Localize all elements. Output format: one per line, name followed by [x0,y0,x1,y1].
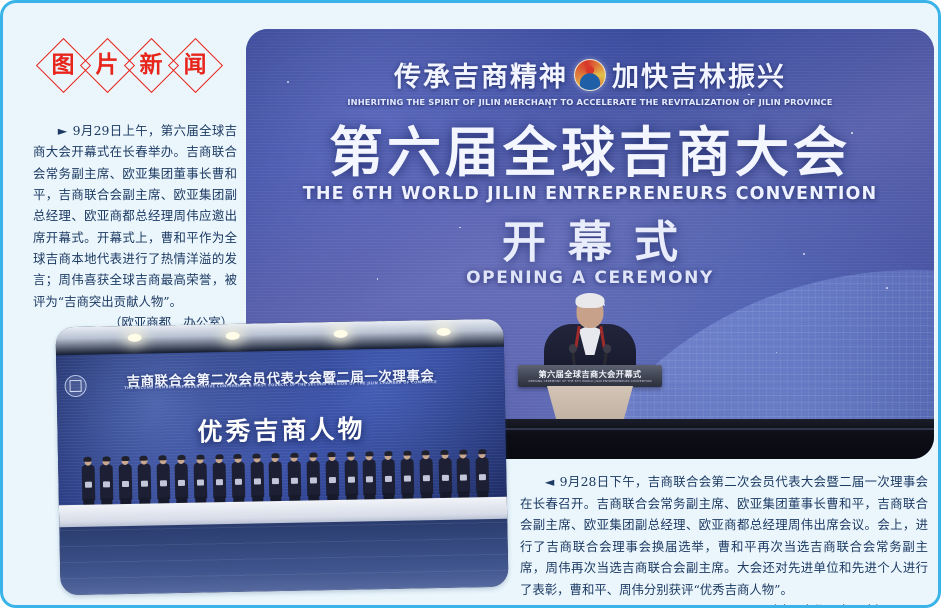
article-left-marker: ► [58,123,69,138]
stage-banner-cn-left: 传承吉商精神 [394,55,568,94]
award-trophy-icon [404,476,411,482]
article-right-marker: ◄ [545,474,556,489]
newspaper-page: 图 片 新 闻 ► 9月29日上午，第六届全球吉商大会开幕式在长春举办。吉商联合… [0,0,941,608]
honouree-head [84,458,91,466]
honouree-head [140,457,147,465]
spotlight-icon [436,328,450,336]
article-left: ► 9月29日上午，第六届全球吉商大会开幕式在长春举办。吉商联合会常务副主席、欧… [33,120,237,333]
award-trophy-icon [103,481,110,487]
venue-floor [59,519,508,596]
honouree-head [422,451,429,459]
award-trophy-icon [366,476,373,482]
ceremony-subtitle-cn: 开幕式 [246,219,934,267]
article-right-text: 9月28日下午，吉商联合会第二次会员代表大会暨二届一次理事会在长春召开。吉商联合… [520,474,928,597]
award-trophy-icon [329,477,336,483]
award-trophy-icon [291,478,298,484]
stage-banner-en: INHERITING THE SPIRIT OF JILIN MERCHANT … [246,97,934,107]
jilin-chamber-emblem-icon [574,59,606,91]
award-trophy-icon [235,479,242,485]
honouree-head [253,454,260,462]
award-trophy-icon [460,474,467,480]
award-trophy-icon [141,481,148,487]
award-trophy-icon [310,477,317,483]
podium-sign-cn: 第六届全球吉商大会开幕式 [538,370,641,378]
spotlight-icon [226,332,240,340]
article-right: ◄ 9月28日下午，吉商联合会第二次会员代表大会暨二届一次理事会在长春召开。吉商… [520,471,928,608]
award-trophy-icon [479,474,486,480]
award-trophy-icon [254,478,261,484]
masthead-diamond-4: 闻 [167,37,223,93]
masthead: 图 片 新 闻 [35,37,211,93]
honouree-head [122,457,129,465]
award-trophy-icon [423,475,430,481]
award-trophy-icon [442,475,449,481]
article-left-text: 9月29日上午，第六届全球吉商大会开幕式在长春举办。吉商联合会常务副主席、欧亚集… [33,123,237,309]
podium-sign: 第六届全球吉商大会开幕式 OPENING CEREMONY OF THE 6TH… [518,365,662,387]
award-trophy-icon [178,480,185,486]
honouree-head [159,456,166,464]
honouree-head [385,452,392,460]
honouree-head [347,453,354,461]
award-trophy-icon [272,478,279,484]
honouree-head [178,456,185,464]
photo-honourees: 吉商联合会第二次会员代表大会暨二届一次理事会 THE SECOND MEMBER… [55,319,508,596]
ceremony-subtitle-en: OPENING A CEREMONY [246,268,934,288]
honouree-head [403,452,410,460]
convention-title-block: 第六届全球吉商大会 THE 6TH WORLD JILIN ENTREPRENE… [246,125,934,204]
honouree-head [234,455,241,463]
article-right-credit: （欧亚商都 办公室） [520,600,928,608]
award-trophy-icon [160,480,167,486]
honouree-head [216,455,223,463]
spotlight-icon [127,334,141,342]
honouree-head [366,452,373,460]
podium-sign-en: OPENING CEREMONY OF THE 6TH WORLD JILIN … [528,380,651,383]
honouree-head [460,450,467,458]
honouree-head [272,454,279,462]
spotlight-icon [333,330,347,338]
honouree-head [197,456,204,464]
honouree-head [103,457,110,465]
award-trophy-icon [216,479,223,485]
article-right-body: ◄ 9月28日下午，吉商联合会第二次会员代表大会暨二届一次理事会在长春召开。吉商… [520,471,928,600]
convention-title-en: THE 6TH WORLD JILIN ENTREPRENEURS CONVEN… [246,184,934,204]
convention-title-cn: 第六届全球吉商大会 [246,125,934,182]
honouree-head [441,451,448,459]
stage-banner-top: 传承吉商精神 加快吉林振兴 INHERITING THE SPIRIT OF J… [246,55,934,107]
masthead-char-4: 闻 [167,37,223,93]
award-trophy-icon [197,479,204,485]
speaker-hair [576,293,605,308]
award-trophy-icon [348,477,355,483]
honouree-head [328,453,335,461]
award-trophy-icon [84,482,91,488]
article-left-body: ► 9月29日上午，第六届全球吉商大会开幕式在长春举办。吉商联合会常务副主席、欧… [33,120,237,312]
stage-banner-cn: 传承吉商精神 加快吉林振兴 [246,55,934,94]
award-trophy-icon [385,476,392,482]
ceremony-subtitle-block: 开幕式 OPENING A CEREMONY [246,219,934,288]
stage-banner-cn-right: 加快吉林振兴 [612,55,786,94]
award-trophy-icon [122,481,129,487]
